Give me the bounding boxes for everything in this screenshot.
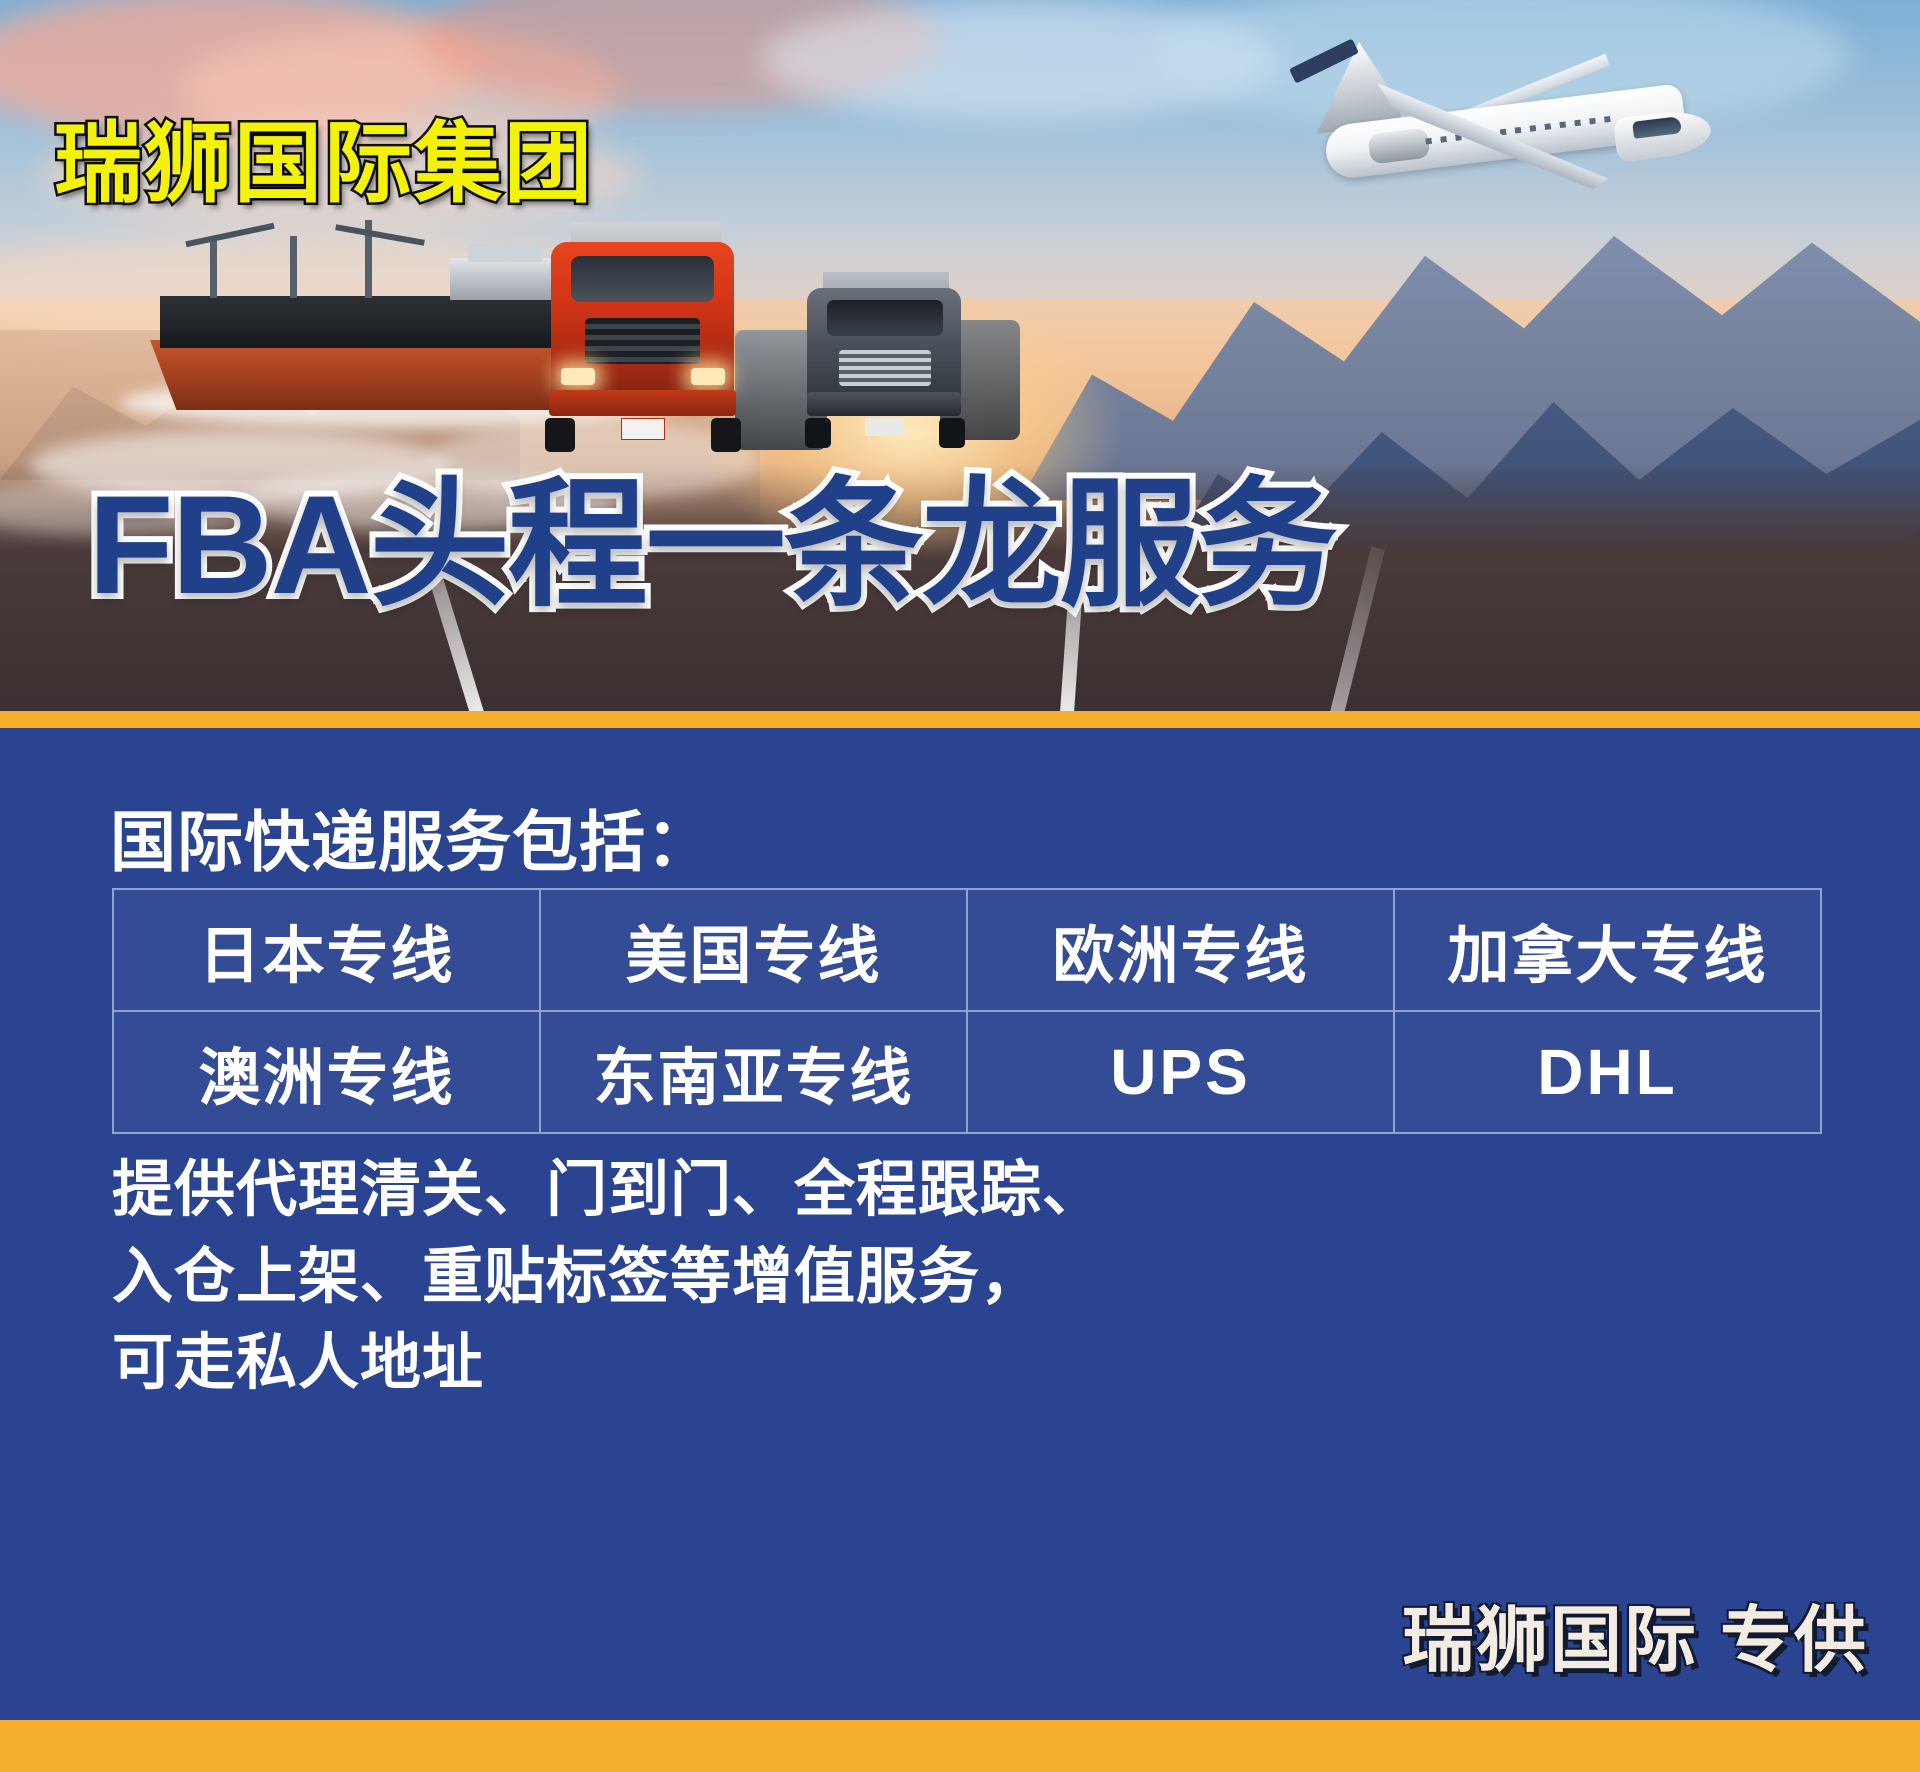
service-cell[interactable]: 加拿大专线	[1394, 889, 1821, 1011]
ship-bridge-top	[468, 244, 542, 262]
service-cell[interactable]: 澳洲专线	[113, 1011, 540, 1133]
info-panel: 国际快递服务包括： 日本专线 美国专线 欧洲专线 加拿大专线 澳洲专线 东南亚专…	[0, 728, 1920, 1720]
body-line: 提供代理清关、门到门、全程跟踪、	[112, 1146, 1104, 1233]
red-truck-graphic	[545, 222, 740, 452]
body-line: 可走私人地址	[112, 1319, 1104, 1406]
brand-signature: 瑞狮国际 专供	[1402, 1581, 1868, 1686]
truck-grille	[839, 350, 931, 386]
truck-windshield	[571, 256, 714, 302]
table-row: 日本专线 美国专线 欧洲专线 加拿大专线	[113, 889, 1821, 1011]
service-cell[interactable]: 日本专线	[113, 889, 540, 1011]
truck-bumper	[549, 390, 736, 416]
service-cell-dhl[interactable]: DHL	[1394, 1011, 1821, 1133]
ship-crane	[290, 236, 297, 298]
dark-truck-graphic	[805, 272, 965, 457]
value-added-services-copy: 提供代理清关、门到门、全程跟踪、 入仓上架、重贴标签等增值服务， 可走私人地址	[112, 1146, 1104, 1406]
body-line: 入仓上架、重贴标签等增值服务，	[112, 1233, 1104, 1320]
panel-heading: 国际快递服务包括：	[110, 789, 713, 885]
services-table: 日本专线 美国专线 欧洲专线 加拿大专线 澳洲专线 东南亚专线 UPS DHL	[112, 888, 1822, 1134]
ship-crane	[210, 236, 217, 298]
truck-headlight	[691, 368, 725, 385]
private-jet-graphic	[1285, 35, 1705, 225]
page-title: FBA头程一条龙服务	[88, 432, 1336, 634]
gold-footer-bar	[0, 1720, 1920, 1772]
truck-grille	[585, 318, 700, 364]
table-row: 澳洲专线 东南亚专线 UPS DHL	[113, 1011, 1821, 1133]
service-cell[interactable]: 美国专线	[540, 889, 967, 1011]
gold-divider-bar	[0, 711, 1920, 728]
service-cell[interactable]: 东南亚专线	[540, 1011, 967, 1133]
service-cell[interactable]: 欧洲专线	[967, 889, 1394, 1011]
brand-logo: 瑞狮国际集团	[54, 93, 594, 220]
poster-root: 瑞狮国际集团 FBA头程一条龙服务 国际快递服务包括： 日本专线 美国专线 欧洲…	[0, 0, 1920, 1772]
truck-bumper	[807, 392, 961, 416]
truck-windshield	[827, 300, 943, 336]
truck-headlight	[561, 368, 595, 385]
service-cell-ups[interactable]: UPS	[967, 1011, 1394, 1133]
hero-image: 瑞狮国际集团 FBA头程一条龙服务	[0, 0, 1920, 713]
